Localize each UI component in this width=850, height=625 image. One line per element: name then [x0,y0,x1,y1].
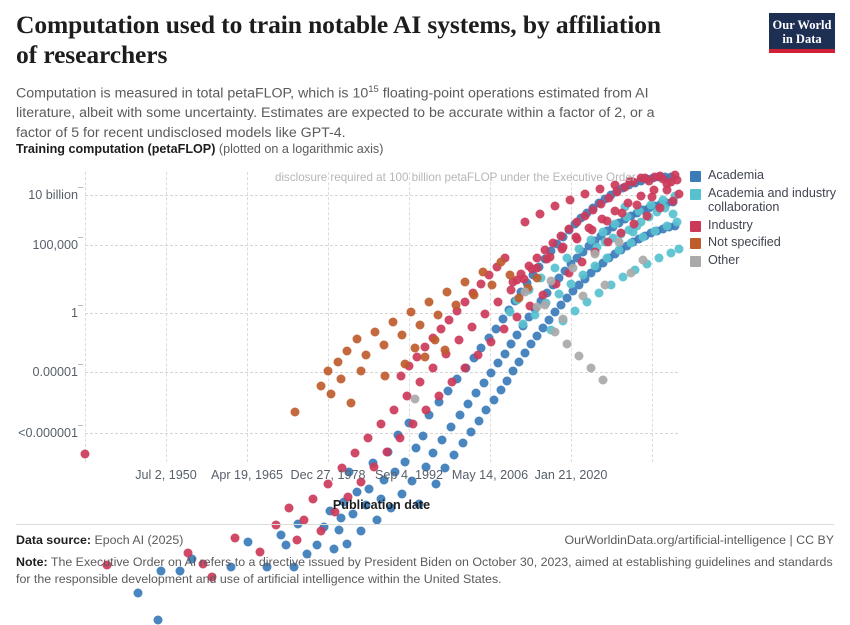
data-source-value: Epoch AI (2025) [91,533,183,547]
y-tick-mark [78,305,83,306]
owid-logo-line1: Our World [769,18,835,32]
data-point[interactable] [615,238,624,247]
data-point[interactable] [581,190,590,199]
data-point[interactable] [272,521,281,530]
data-point[interactable] [618,209,627,218]
chart-page: Computation used to train notable AI sys… [0,0,850,600]
data-point[interactable] [648,193,657,202]
data-point[interactable] [412,444,421,453]
data-point[interactable] [431,336,440,345]
legend-item[interactable]: Academia and industry collaboration [690,186,848,215]
data-point[interactable] [604,238,613,247]
data-point[interactable] [437,325,446,334]
data-point[interactable] [507,286,516,295]
legend-item[interactable]: Academia [690,168,848,183]
data-point[interactable] [479,268,488,277]
legend-item-label: Academia [708,168,764,183]
data-point[interactable] [597,200,606,209]
data-point[interactable] [673,218,682,227]
data-point[interactable] [591,262,600,271]
y-axis-tick-label: 100,000 [0,238,78,252]
data-point[interactable] [441,346,450,355]
data-point[interactable] [477,280,486,289]
x-gridline [166,172,167,462]
y-axis-tick-label: 10 billion [0,188,78,202]
page-subtitle: Computation is measured in total petaFLO… [16,80,676,143]
x-axis-title: Publication date [85,498,678,512]
data-point[interactable] [507,340,516,349]
data-point[interactable] [472,389,481,398]
data-point[interactable] [357,367,366,376]
data-point[interactable] [547,277,556,286]
data-point[interactable] [438,436,447,445]
data-point[interactable] [555,290,564,299]
legend-item-label: Not specified [708,235,781,250]
data-point[interactable] [411,344,420,353]
x-axis-tick-label: May 14, 2006 [452,468,528,482]
data-point[interactable] [617,229,626,238]
data-point[interactable] [663,186,672,195]
legend-swatch-icon [690,238,701,249]
data-point[interactable] [494,359,503,368]
data-point[interactable] [639,233,648,242]
data-point[interactable] [459,439,468,448]
data-point[interactable] [630,220,639,229]
data-point[interactable] [500,325,509,334]
data-point[interactable] [497,258,506,267]
footer-note-label: Note: [16,555,48,569]
data-point[interactable] [633,201,642,210]
data-point[interactable] [624,199,633,208]
data-point[interactable] [536,210,545,219]
data-point[interactable] [380,341,389,350]
x-axis-tick-label: Sep 4, 1992 [375,468,443,482]
legend-item[interactable]: Other [690,253,848,268]
data-point[interactable] [509,367,518,376]
data-point[interactable] [611,220,620,229]
data-point[interactable] [411,395,420,404]
owid-logo-line2: in Data [769,32,835,46]
data-point[interactable] [327,390,336,399]
data-point[interactable] [655,254,664,263]
data-source: Data source: Epoch AI (2025) [16,532,183,549]
data-point[interactable] [337,375,346,384]
data-point[interactable] [390,406,399,415]
data-point[interactable] [567,280,576,289]
data-point[interactable] [675,245,684,254]
data-point[interactable] [383,448,392,457]
data-point[interactable] [343,347,352,356]
legend-swatch-icon [690,221,701,232]
data-point[interactable] [596,185,605,194]
data-point[interactable] [421,343,430,352]
owid-logo[interactable]: Our World in Data [769,13,835,53]
y-tick-mark [78,364,83,365]
data-point[interactable] [365,485,374,494]
data-point[interactable] [443,288,452,297]
chart-legend[interactable]: AcademiaAcademia and industry collaborat… [690,168,848,270]
data-point[interactable] [578,258,587,267]
data-point[interactable] [543,255,552,264]
data-point[interactable] [581,212,590,221]
data-point[interactable] [557,232,566,241]
data-point[interactable] [533,254,542,263]
legend-swatch-icon [690,189,701,200]
data-point[interactable] [671,171,680,180]
data-point[interactable] [371,328,380,337]
data-point[interactable] [447,423,456,432]
data-point[interactable] [575,352,584,361]
data-point[interactable] [545,316,554,325]
x-axis-tick-label: Apr 19, 1965 [211,468,283,482]
x-gridline [571,172,572,462]
data-point[interactable] [81,450,90,459]
y-axis-title: Training computation (petaFLOP) (plotted… [16,142,383,156]
data-point[interactable] [134,589,143,598]
data-point[interactable] [515,358,524,367]
data-point[interactable] [461,364,470,373]
x-gridline [85,172,86,462]
data-point[interactable] [579,292,588,301]
data-point[interactable] [573,235,582,244]
data-point[interactable] [579,271,588,280]
data-point[interactable] [481,310,490,319]
data-point[interactable] [461,278,470,287]
executive-order-annotation: disclosure required at 100 billion petaF… [275,171,636,184]
data-point[interactable] [452,301,461,310]
footer-divider [16,524,834,525]
data-point[interactable] [565,225,574,234]
y-axis-title-rest: (plotted on a logarithmic axis) [215,142,383,156]
data-point[interactable] [513,313,522,322]
x-axis-tick-label: Jan 21, 2020 [535,468,608,482]
y-axis-tick-label: <0.000001 [0,426,78,440]
data-point[interactable] [587,364,596,373]
data-point[interactable] [603,254,612,263]
page-title: Computation used to train notable AI sys… [16,10,676,70]
data-point[interactable] [487,369,496,378]
data-point[interactable] [401,458,410,467]
legend-swatch-icon [690,256,701,267]
x-gridline [247,172,248,462]
subtitle-part1: Computation is measured in total petaFLO… [16,86,368,102]
data-point[interactable] [503,377,512,386]
data-point[interactable] [527,340,536,349]
data-point[interactable] [416,321,425,330]
data-point[interactable] [347,399,356,408]
data-point[interactable] [494,298,503,307]
data-point[interactable] [429,449,438,458]
data-point[interactable] [445,316,454,325]
data-point[interactable] [541,301,550,310]
data-point[interactable] [448,378,457,387]
data-point[interactable] [669,210,678,219]
data-point[interactable] [656,172,665,181]
data-point[interactable] [422,406,431,415]
data-point[interactable] [490,396,499,405]
data-point[interactable] [324,367,333,376]
data-point[interactable] [643,212,652,221]
legend-item[interactable]: Industry [690,218,848,233]
y-axis-tick-label: 1 [0,306,78,320]
data-point[interactable] [566,196,575,205]
data-point[interactable] [475,417,484,426]
data-point[interactable] [429,364,438,373]
data-point[interactable] [444,387,453,396]
footer: Data source: Epoch AI (2025) OurWorldinD… [16,532,834,588]
data-point[interactable] [389,318,398,327]
data-point[interactable] [398,331,407,340]
data-point[interactable] [627,239,636,248]
data-point[interactable] [549,239,558,248]
data-point[interactable] [456,411,465,420]
x-axis-tick-label: Jul 2, 1950 [135,468,197,482]
data-point[interactable] [416,378,425,387]
footer-note: Note: The Executive Order on AI refers t… [16,554,834,588]
data-point[interactable] [589,206,598,215]
data-point[interactable] [434,311,443,320]
data-point[interactable] [651,227,660,236]
data-point[interactable] [377,420,386,429]
x-gridline [328,172,329,462]
data-point[interactable] [421,353,430,362]
data-point[interactable] [601,281,610,290]
y-tick-mark [78,425,83,426]
data-point[interactable] [419,432,428,441]
data-point[interactable] [317,382,326,391]
data-point[interactable] [467,428,476,437]
data-point[interactable] [675,190,684,199]
data-point[interactable] [563,254,572,263]
data-point[interactable] [470,291,479,300]
data-point[interactable] [521,349,530,358]
data-point[interactable] [573,218,582,227]
legend-item-label: Industry [708,218,753,233]
y-axis-title-bold: Training computation (petaFLOP) [16,142,215,156]
data-point[interactable] [464,400,473,409]
data-point[interactable] [334,358,343,367]
data-point[interactable] [615,246,624,255]
data-point[interactable] [559,315,568,324]
data-point[interactable] [541,246,550,255]
data-point[interactable] [558,245,567,254]
footer-link[interactable]: OurWorldinData.org/artificial-intelligen… [565,532,835,549]
data-point[interactable] [401,360,410,369]
y-tick-mark [78,237,83,238]
data-point[interactable] [487,338,496,347]
data-point[interactable] [396,434,405,443]
data-point[interactable] [627,269,636,278]
data-point[interactable] [482,406,491,415]
data-point[interactable] [588,226,597,235]
data-point[interactable] [499,315,508,324]
data-point[interactable] [539,291,548,300]
data-point[interactable] [513,331,522,340]
y-gridline [85,433,678,434]
data-point[interactable] [591,250,600,259]
data-point[interactable] [154,616,163,625]
data-point[interactable] [501,350,510,359]
data-point[interactable] [497,386,506,395]
data-point[interactable] [656,204,665,213]
data-point[interactable] [663,222,672,231]
data-point[interactable] [599,376,608,385]
data-point[interactable] [521,218,530,227]
data-point[interactable] [397,372,406,381]
data-point[interactable] [599,228,608,237]
data-point[interactable] [506,271,515,280]
data-point[interactable] [291,408,300,417]
data-point[interactable] [569,264,578,273]
data-point[interactable] [528,265,537,274]
data-point[interactable] [474,351,483,360]
data-point[interactable] [571,307,580,316]
data-point[interactable] [551,202,560,211]
data-point[interactable] [480,379,489,388]
footer-note-value: The Executive Order on AI refers to a di… [16,555,833,586]
data-point[interactable] [533,274,542,283]
data-point[interactable] [425,298,434,307]
data-point[interactable] [407,308,416,317]
data-point[interactable] [435,392,444,401]
data-point[interactable] [364,434,373,443]
data-point[interactable] [455,336,464,345]
legend-item-label: Other [708,253,740,268]
data-point[interactable] [461,298,470,307]
header: Computation used to train notable AI sys… [16,10,676,143]
data-point[interactable] [468,323,477,332]
legend-item-label: Academia and industry collaboration [708,186,848,215]
data-point[interactable] [603,217,612,226]
data-point[interactable] [551,328,560,337]
data-point[interactable] [533,332,542,341]
data-point[interactable] [519,320,528,329]
data-point[interactable] [639,256,648,265]
data-point[interactable] [637,192,646,201]
data-point[interactable] [641,174,650,183]
subtitle-exponent: 15 [368,84,379,95]
x-gridline [490,172,491,462]
data-point[interactable] [353,488,362,497]
data-point[interactable] [381,372,390,381]
scatter-plot[interactable] [85,172,678,462]
x-axis-tick-label: Dec 27, 1978 [291,468,366,482]
data-point[interactable] [362,351,371,360]
legend-swatch-icon [690,171,701,182]
data-point[interactable] [563,340,572,349]
data-point[interactable] [551,264,560,273]
data-point[interactable] [531,311,540,320]
y-tick-mark [78,187,83,188]
data-point[interactable] [521,288,530,297]
y-gridline [85,313,678,314]
legend-item[interactable]: Not specified [690,235,848,250]
data-source-label: Data source: [16,533,91,547]
data-point[interactable] [450,451,459,460]
data-point[interactable] [488,281,497,290]
data-point[interactable] [351,449,360,458]
data-point[interactable] [353,335,362,344]
y-axis-tick-label: 0.00001 [0,365,78,379]
data-point[interactable] [595,289,604,298]
data-point[interactable] [605,194,614,203]
data-point[interactable] [409,420,418,429]
data-point[interactable] [575,245,584,254]
